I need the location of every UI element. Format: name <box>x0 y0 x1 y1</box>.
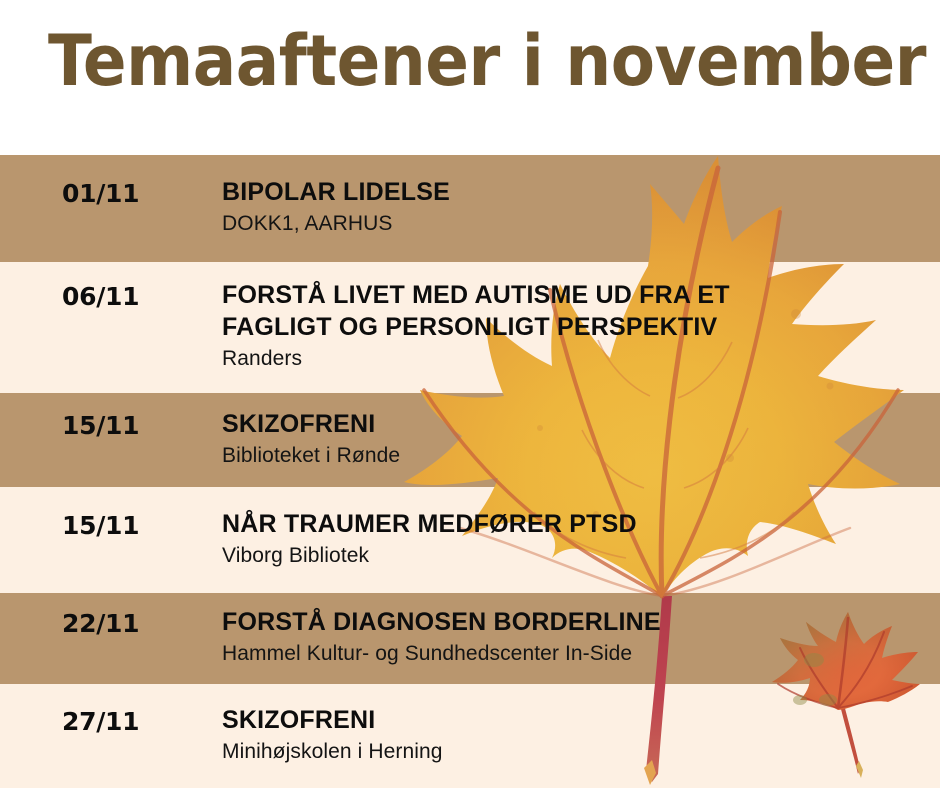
event-title: SKIZOFRENI <box>222 704 922 736</box>
event-venue: Biblioteket i Rønde <box>222 442 922 469</box>
event-date: 15/11 <box>62 511 139 540</box>
event-details: SKIZOFRENIMinihøjskolen i Herning <box>222 704 922 765</box>
event-title: NÅR TRAUMER MEDFØRER PTSD <box>222 508 922 540</box>
event-details: NÅR TRAUMER MEDFØRER PTSDViborg Bibliote… <box>222 508 922 569</box>
event-venue: Randers <box>222 345 922 372</box>
event-details: FORSTÅ DIAGNOSEN BORDERLINEHammel Kultur… <box>222 606 922 667</box>
event-date: 27/11 <box>62 707 139 736</box>
page-title: Temaaftener i november <box>48 26 926 96</box>
event-title: FORSTÅ LIVET MED AUTISME UD FRA ET FAGLI… <box>222 279 922 343</box>
event-title: SKIZOFRENI <box>222 408 922 440</box>
event-venue: DOKK1, AARHUS <box>222 210 922 237</box>
event-details: SKIZOFRENIBiblioteket i Rønde <box>222 408 922 469</box>
event-details: FORSTÅ LIVET MED AUTISME UD FRA ET FAGLI… <box>222 279 922 372</box>
event-venue: Minihøjskolen i Herning <box>222 738 922 765</box>
event-venue: Hammel Kultur- og Sundhedscenter In-Side <box>222 640 922 667</box>
event-venue: Viborg Bibliotek <box>222 542 922 569</box>
event-title: BIPOLAR LIDELSE <box>222 176 922 208</box>
event-date: 01/11 <box>62 179 139 208</box>
event-title: FORSTÅ DIAGNOSEN BORDERLINE <box>222 606 922 638</box>
event-date: 22/11 <box>62 609 139 638</box>
poster-canvas: Temaaftener i november 01/11BIPOLAR LIDE… <box>0 0 940 788</box>
title-bar: Temaaftener i november <box>0 0 940 155</box>
schedule-bands <box>0 155 940 788</box>
event-date: 06/11 <box>62 282 139 311</box>
event-date: 15/11 <box>62 411 139 440</box>
event-details: BIPOLAR LIDELSEDOKK1, AARHUS <box>222 176 922 237</box>
